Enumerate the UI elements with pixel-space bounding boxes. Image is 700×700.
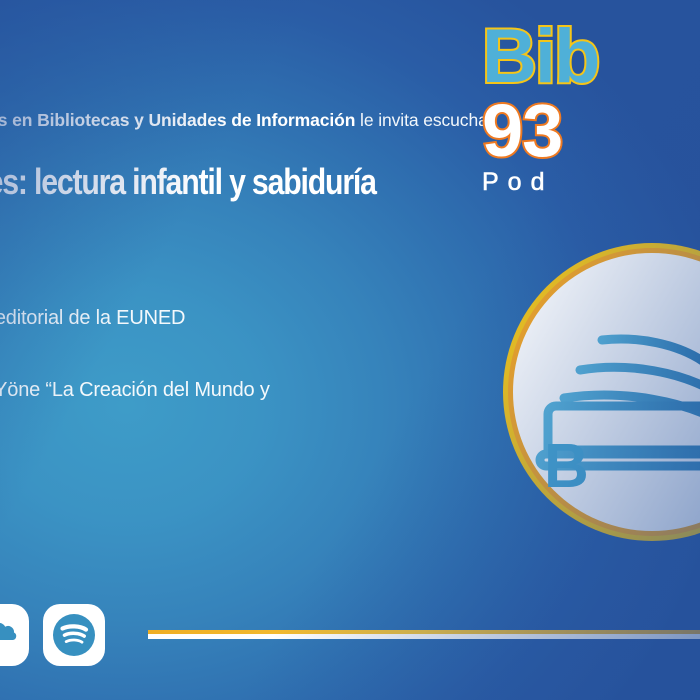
brand-subtitle: Pod: [482, 168, 700, 197]
book-emblem: B: [518, 258, 700, 526]
speaker-role-1: notora editorial de la EUNED: [0, 306, 185, 331]
social-icons-row: [0, 604, 105, 666]
podcast-promo-poster: ervicios en Bibliotecas y Unidades de In…: [0, 0, 700, 700]
divider-rule: [148, 630, 700, 639]
emblem-letter: B: [544, 431, 588, 502]
speaker-name-2: arte: [0, 355, 270, 378]
intro-bold-text: ervicios en Bibliotecas y Unidades de In…: [0, 110, 355, 130]
speaker-block-2: arte o Yöbi Yöne “La Creación del Mundo …: [0, 355, 270, 403]
soundcloud-icon: [0, 623, 20, 647]
speaker-role-2: o Yöbi Yöne “La Creación del Mundo y: [0, 378, 270, 403]
spotify-icon: [51, 612, 97, 658]
brand-number: 93: [482, 96, 700, 166]
episode-title: voces: lectura infantil y sabiduría: [0, 163, 526, 201]
brand-logo: Bib 93 Pod: [482, 22, 700, 197]
divider-white-stripe: [148, 634, 700, 639]
spotify-button[interactable]: [43, 604, 105, 666]
soundcloud-button[interactable]: [0, 604, 29, 666]
speaker-name-1: lúñez: [0, 283, 185, 306]
brand-word: Bib: [482, 22, 700, 92]
intro-tail-text: le invita escuchar:: [355, 110, 498, 130]
speaker-block-1: lúñez notora editorial de la EUNED: [0, 283, 185, 331]
